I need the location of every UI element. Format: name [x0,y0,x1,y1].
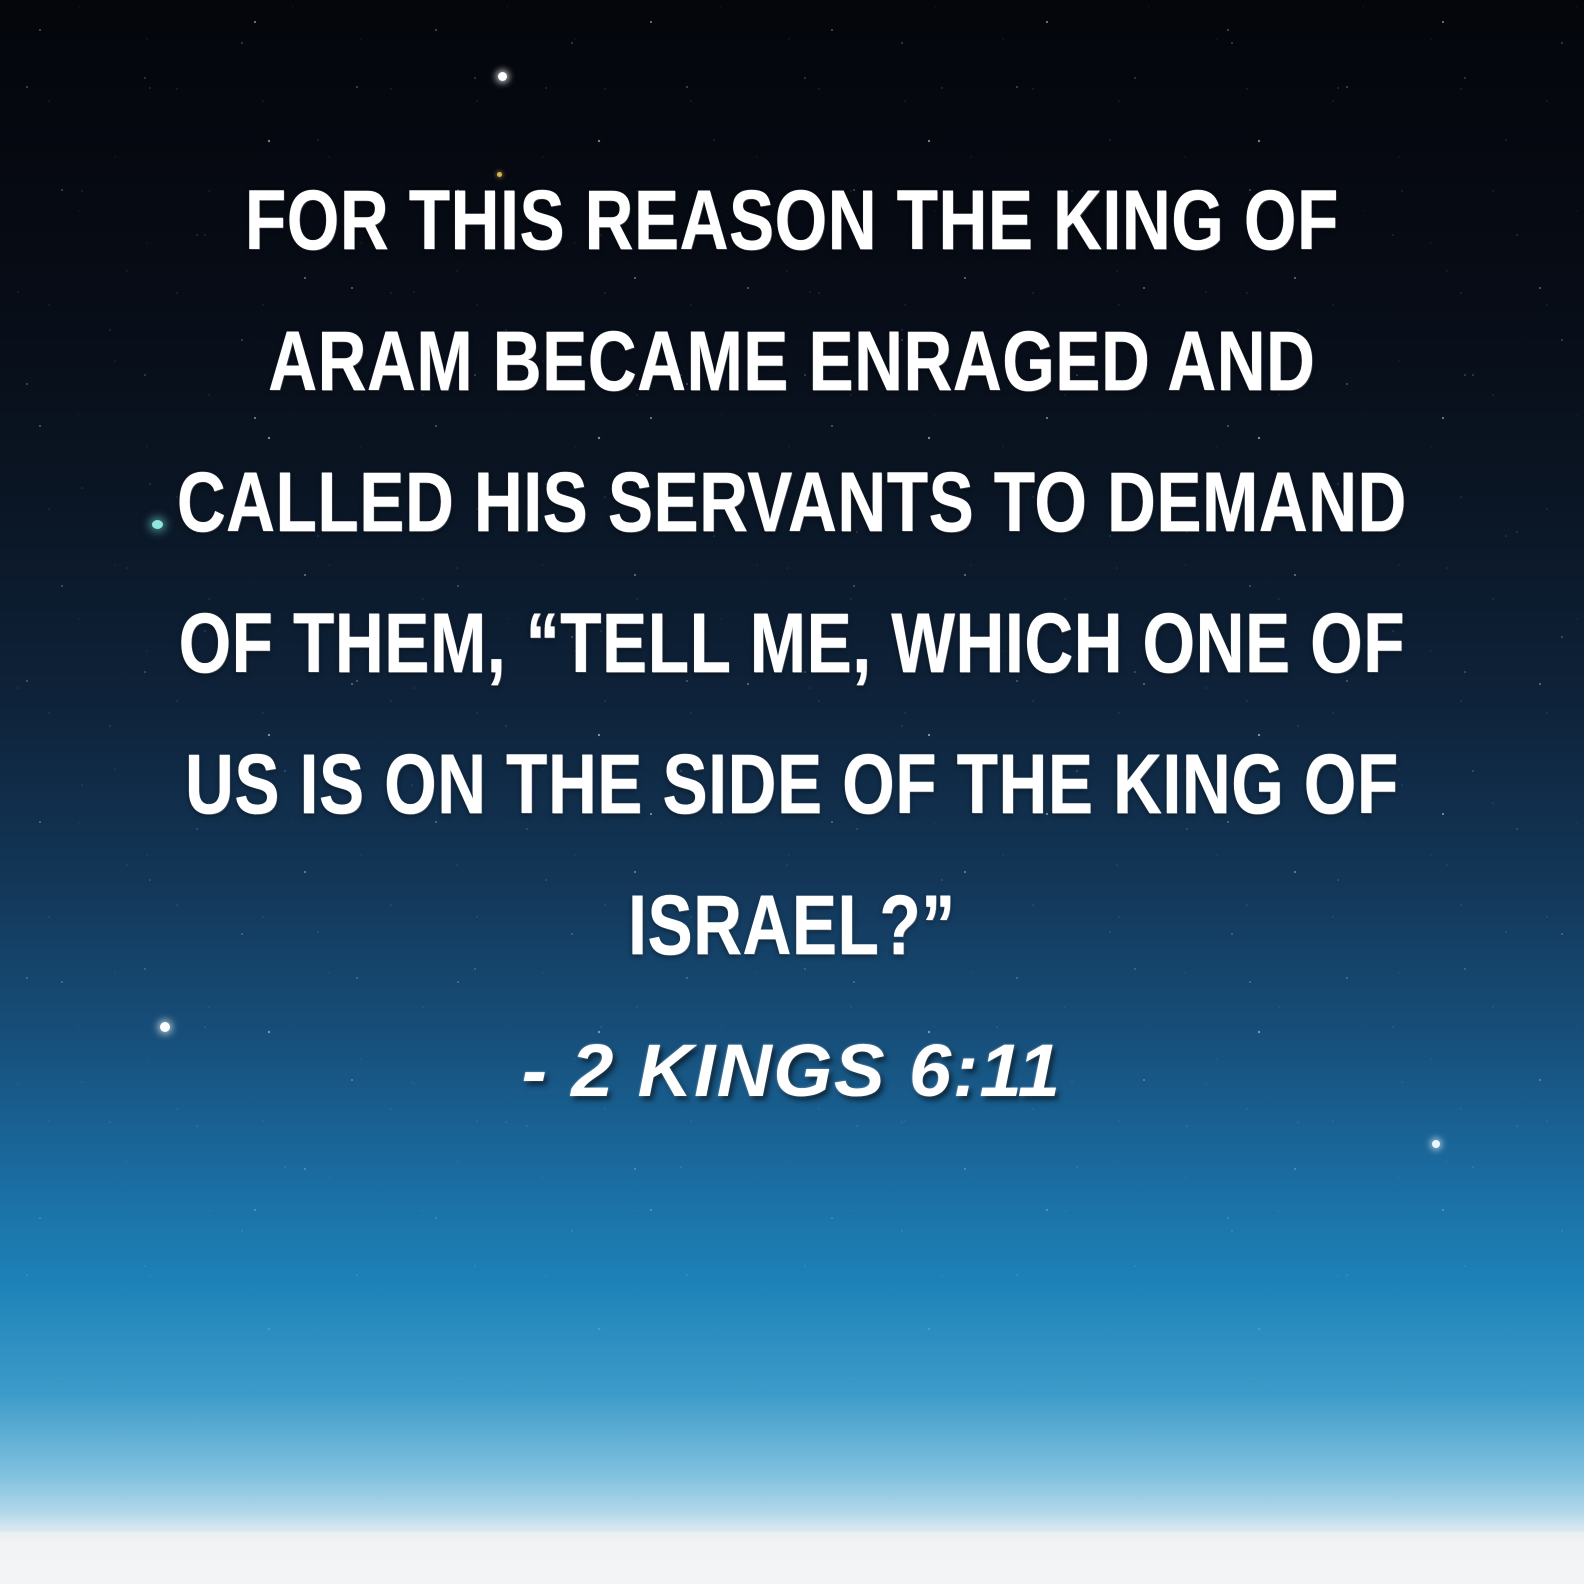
snow-horizon [0,1532,1584,1584]
verse-line: CALLED HIS SERVANTS TO DEMAND [158,432,1426,573]
verse-image-card: FOR THIS REASON THE KING OF ARAM BECAME … [0,0,1584,1584]
verse-line: ARAM BECAME ENRAGED AND [158,291,1426,432]
verse-attribution: - 2 KINGS 6:11 [0,1028,1584,1113]
verse-text-block: FOR THIS REASON THE KING OF ARAM BECAME … [0,150,1584,996]
verse-line: FOR THIS REASON THE KING OF [158,150,1426,291]
verse-line: ISRAEL?” [158,855,1426,996]
verse-reference-label: - 2 KINGS 6:11 [522,1028,1062,1113]
verse-line: US IS ON THE SIDE OF THE KING OF [158,714,1426,855]
verse-line: OF THEM, “TELL ME, WHICH ONE OF [158,573,1426,714]
